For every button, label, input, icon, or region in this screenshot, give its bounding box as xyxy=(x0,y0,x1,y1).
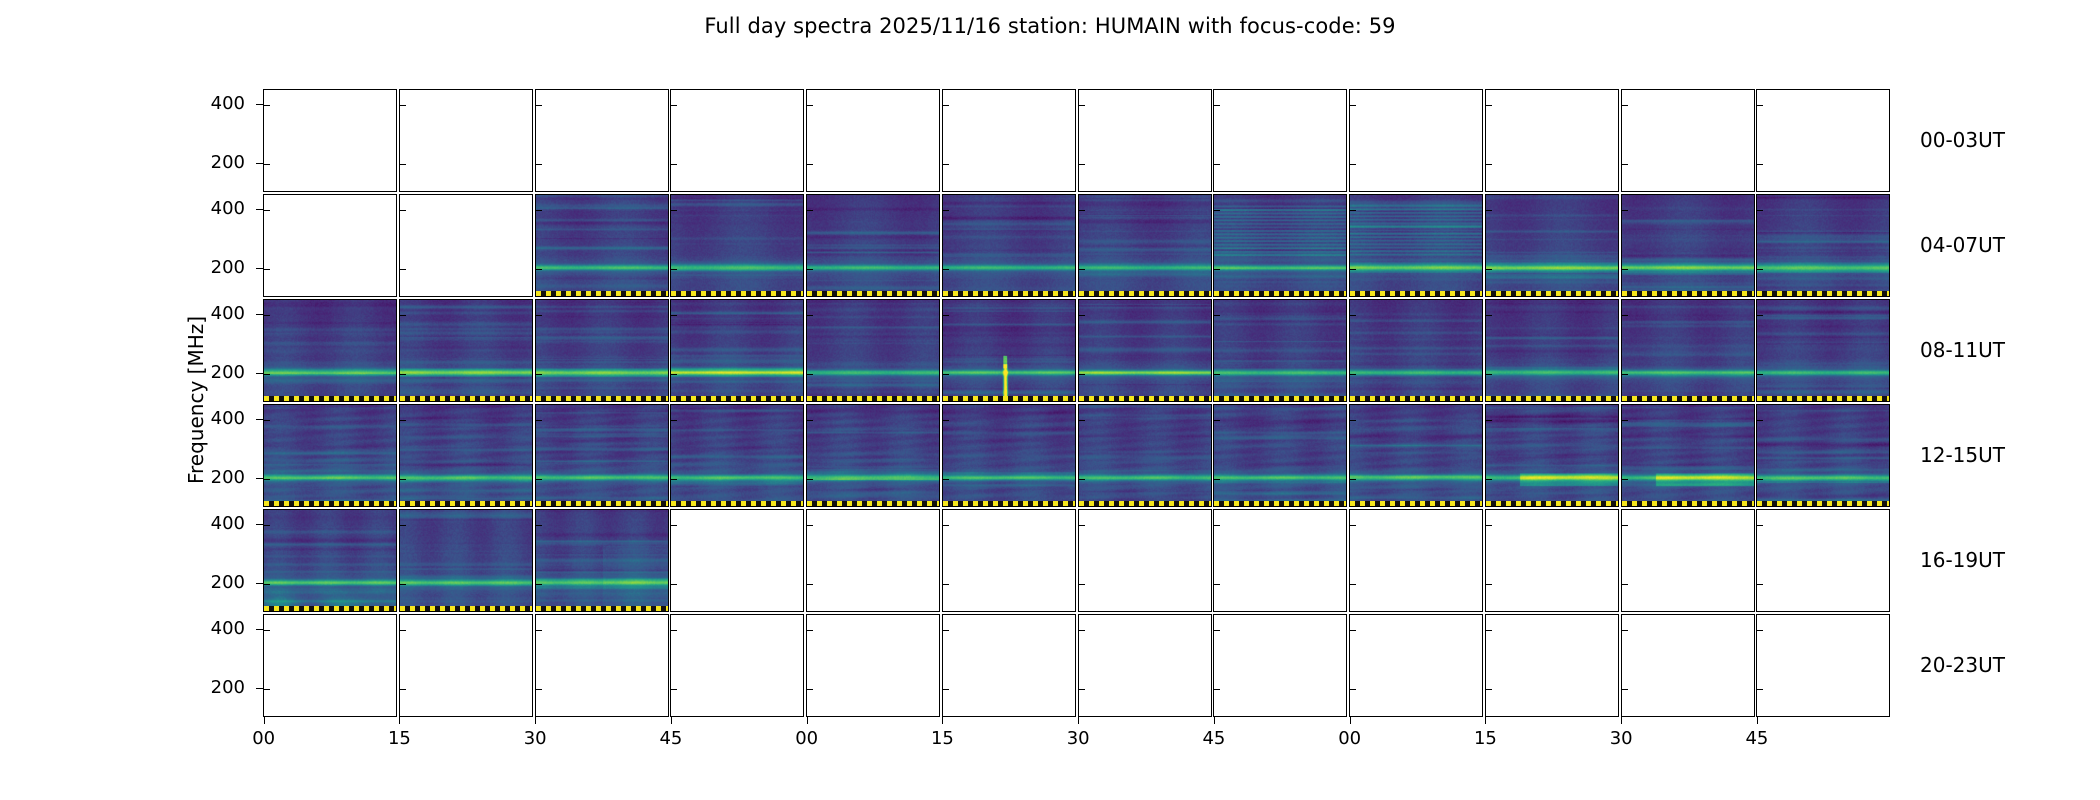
spectrogram-panel[interactable] xyxy=(1756,614,1890,717)
spectrogram-panel[interactable] xyxy=(1078,614,1212,717)
y-tick-mark xyxy=(1486,479,1492,480)
spectrogram-panel[interactable] xyxy=(670,614,804,717)
dynamic-spectrum-image xyxy=(536,300,668,401)
y-tick-mark xyxy=(807,315,813,316)
spectrogram-row-00-03ut xyxy=(263,89,1890,192)
y-tick-mark xyxy=(1350,164,1356,165)
spectrogram-panel[interactable] xyxy=(942,614,1076,717)
y-tick-mark xyxy=(807,164,813,165)
data-availability-strip xyxy=(807,396,939,401)
y-tick-mark xyxy=(943,374,949,375)
spectrogram-panel[interactable] xyxy=(1621,614,1755,717)
y-tick-mark xyxy=(1079,584,1085,585)
y-axis-tick-label: 200 xyxy=(211,572,245,593)
spectrogram-panel[interactable] xyxy=(1756,509,1890,612)
spectrogram-panel[interactable] xyxy=(399,614,533,717)
spectrogram-panel[interactable] xyxy=(535,404,669,507)
data-availability-strip xyxy=(1350,291,1482,296)
y-tick-mark xyxy=(1622,210,1628,211)
dynamic-spectrum-image xyxy=(1079,195,1211,296)
y-tick-mark xyxy=(1079,479,1085,480)
data-availability-strip xyxy=(943,396,1075,401)
y-tick-mark xyxy=(671,630,677,631)
spectrogram-panel[interactable] xyxy=(399,89,533,192)
row-time-label: 16-19UT xyxy=(1920,548,2005,572)
spectrogram-row-12-15ut xyxy=(263,404,1890,507)
spectrogram-panel[interactable] xyxy=(942,194,1076,297)
y-tick-mark xyxy=(536,689,542,690)
spectrogram-panel[interactable] xyxy=(535,299,669,402)
y-tick-mark xyxy=(1350,315,1356,316)
dynamic-spectrum-image xyxy=(943,300,1075,401)
y-tick-mark xyxy=(1486,164,1492,165)
y-tick-mark xyxy=(536,420,542,421)
y-tick-mark xyxy=(1486,525,1492,526)
y-tick-mark xyxy=(1350,525,1356,526)
y-tick-mark xyxy=(1350,420,1356,421)
data-availability-strip xyxy=(1486,291,1618,296)
y-tick-mark xyxy=(264,479,270,480)
spectrogram-panel[interactable] xyxy=(1485,404,1619,507)
y-tick-mark xyxy=(264,315,270,316)
y-tick-mark xyxy=(264,584,270,585)
y-tick-mark xyxy=(671,164,677,165)
y-tick-mark xyxy=(400,420,406,421)
y-tick-mark xyxy=(400,105,406,106)
y-tick-mark xyxy=(1757,315,1763,316)
spectrogram-panel[interactable] xyxy=(263,194,397,297)
y-tick-mark xyxy=(943,164,949,165)
dynamic-spectrum-image xyxy=(264,405,396,506)
spectrogram-panel[interactable] xyxy=(263,509,397,612)
x-axis-tick-label: 15 xyxy=(931,728,954,749)
data-availability-strip xyxy=(671,291,803,296)
y-tick-mark xyxy=(400,630,406,631)
dynamic-spectrum-image xyxy=(671,405,803,506)
y-tick-mark xyxy=(1757,164,1763,165)
dynamic-spectrum-image xyxy=(1757,300,1889,401)
y-axis-tick xyxy=(256,104,263,105)
spectrogram-panel[interactable] xyxy=(1349,89,1483,192)
y-tick-mark xyxy=(264,630,270,631)
y-tick-mark xyxy=(1079,164,1085,165)
dynamic-spectrum-image xyxy=(943,195,1075,296)
y-tick-mark xyxy=(671,315,677,316)
dynamic-spectrum-image xyxy=(807,300,939,401)
spectrogram-panel[interactable] xyxy=(1078,404,1212,507)
y-tick-mark xyxy=(1622,689,1628,690)
y-tick-mark xyxy=(807,525,813,526)
spectrogram-panel[interactable] xyxy=(1213,299,1347,402)
spectrogram-panel[interactable] xyxy=(806,509,940,612)
y-tick-mark xyxy=(536,164,542,165)
dynamic-spectrum-image xyxy=(1214,195,1346,296)
spectrogram-panel[interactable] xyxy=(670,89,804,192)
spectrogram-panel[interactable] xyxy=(670,404,804,507)
row-time-label: 12-15UT xyxy=(1920,443,2005,467)
data-availability-strip xyxy=(1622,396,1754,401)
y-tick-mark xyxy=(943,420,949,421)
spectrogram-row-08-11ut xyxy=(263,299,1890,402)
y-tick-mark xyxy=(1350,269,1356,270)
y-tick-mark xyxy=(1350,584,1356,585)
data-availability-strip xyxy=(264,606,396,611)
spectrogram-panel[interactable] xyxy=(1078,509,1212,612)
x-axis-tick-label: 00 xyxy=(252,728,275,749)
x-axis-tick xyxy=(671,717,672,724)
y-tick-mark xyxy=(1214,164,1220,165)
y-axis-tick-label: 400 xyxy=(211,513,245,534)
y-tick-mark xyxy=(536,269,542,270)
x-axis-tick xyxy=(1350,717,1351,724)
spectrogram-panel[interactable] xyxy=(1213,614,1347,717)
dynamic-spectrum-image xyxy=(1214,405,1346,506)
spectrogram-panel[interactable] xyxy=(535,89,669,192)
x-axis-tick-label: 45 xyxy=(1202,728,1225,749)
y-tick-mark xyxy=(671,689,677,690)
y-tick-mark xyxy=(1350,630,1356,631)
dynamic-spectrum-image xyxy=(1622,300,1754,401)
y-tick-mark xyxy=(264,689,270,690)
row-time-label: 08-11UT xyxy=(1920,338,2005,362)
y-tick-mark xyxy=(536,315,542,316)
x-axis-tick-label: 45 xyxy=(659,728,682,749)
y-tick-mark xyxy=(1079,689,1085,690)
y-tick-mark xyxy=(671,105,677,106)
y-tick-mark xyxy=(671,210,677,211)
spectrogram-panel[interactable] xyxy=(806,194,940,297)
y-tick-mark xyxy=(1214,420,1220,421)
data-availability-strip xyxy=(807,291,939,296)
y-tick-mark xyxy=(536,525,542,526)
spectrogram-panel[interactable] xyxy=(1756,404,1890,507)
data-availability-strip xyxy=(536,606,668,611)
y-tick-mark xyxy=(1214,479,1220,480)
data-availability-strip xyxy=(943,291,1075,296)
x-axis-tick xyxy=(807,717,808,724)
y-tick-mark xyxy=(264,210,270,211)
y-tick-mark xyxy=(400,210,406,211)
x-axis-tick xyxy=(1214,717,1215,724)
y-tick-mark xyxy=(1214,315,1220,316)
spectrogram-panel[interactable] xyxy=(1349,614,1483,717)
spectrogram-panel[interactable] xyxy=(942,89,1076,192)
y-tick-mark xyxy=(943,525,949,526)
dynamic-spectrum-image xyxy=(1079,300,1211,401)
spectrogram-panel[interactable] xyxy=(1078,194,1212,297)
y-tick-mark xyxy=(1079,315,1085,316)
y-tick-mark xyxy=(264,525,270,526)
spectrogram-panel[interactable] xyxy=(263,89,397,192)
spectrogram-panel[interactable] xyxy=(1213,194,1347,297)
spectrogram-panel[interactable] xyxy=(399,194,533,297)
spectrogram-panel[interactable] xyxy=(1349,404,1483,507)
data-availability-strip xyxy=(1486,396,1618,401)
spectrogram-panel[interactable] xyxy=(263,404,397,507)
spectrogram-panel[interactable] xyxy=(806,404,940,507)
data-availability-strip xyxy=(400,606,532,611)
spectrogram-panel[interactable] xyxy=(399,509,533,612)
y-axis-tick xyxy=(256,163,263,164)
spectrogram-panel[interactable] xyxy=(399,299,533,402)
dynamic-spectrum-image xyxy=(1622,195,1754,296)
y-tick-mark xyxy=(400,525,406,526)
y-tick-mark xyxy=(1486,374,1492,375)
spectrogram-panel[interactable] xyxy=(670,194,804,297)
data-availability-strip xyxy=(536,501,668,506)
spectrogram-panel[interactable] xyxy=(1078,299,1212,402)
y-tick-mark xyxy=(1214,525,1220,526)
y-tick-mark xyxy=(264,105,270,106)
spectrogram-panel[interactable] xyxy=(1213,89,1347,192)
dynamic-spectrum-image xyxy=(1214,300,1346,401)
dynamic-spectrum-image xyxy=(1486,195,1618,296)
y-tick-mark xyxy=(1757,689,1763,690)
x-axis-tick-label: 15 xyxy=(388,728,411,749)
x-axis-tick-label: 45 xyxy=(1745,728,1768,749)
y-axis-tick xyxy=(256,419,263,420)
y-axis-tick xyxy=(256,373,263,374)
dynamic-spectrum-image xyxy=(1757,195,1889,296)
x-axis-tick-label: 30 xyxy=(1067,728,1090,749)
spectrogram-panel[interactable] xyxy=(263,614,397,717)
y-axis-tick-label: 200 xyxy=(211,152,245,173)
data-availability-strip xyxy=(1350,501,1482,506)
x-axis-tick-label: 00 xyxy=(795,728,818,749)
y-tick-mark xyxy=(943,105,949,106)
y-tick-mark xyxy=(943,479,949,480)
spectrogram-panel[interactable] xyxy=(535,614,669,717)
dynamic-spectrum-image xyxy=(807,195,939,296)
spectrogram-panel[interactable] xyxy=(1349,299,1483,402)
dynamic-spectrum-image xyxy=(400,405,532,506)
y-tick-mark xyxy=(400,584,406,585)
spectrogram-panel[interactable] xyxy=(1485,89,1619,192)
x-axis-tick xyxy=(264,717,265,724)
y-tick-mark xyxy=(807,420,813,421)
y-tick-mark xyxy=(1757,479,1763,480)
y-tick-mark xyxy=(536,105,542,106)
y-tick-mark xyxy=(1486,210,1492,211)
dynamic-spectrum-image xyxy=(1350,300,1482,401)
spectrogram-panel[interactable] xyxy=(1756,194,1890,297)
data-availability-strip xyxy=(1350,396,1482,401)
y-tick-mark xyxy=(943,689,949,690)
spectrogram-panel[interactable] xyxy=(1621,299,1755,402)
data-availability-strip xyxy=(1214,501,1346,506)
y-tick-mark xyxy=(807,630,813,631)
spectrogram-panel[interactable] xyxy=(1485,614,1619,717)
dynamic-spectrum-image xyxy=(1350,405,1482,506)
spectrogram-panel[interactable] xyxy=(806,614,940,717)
spectrogram-panel[interactable] xyxy=(1349,194,1483,297)
data-availability-strip xyxy=(1622,501,1754,506)
dynamic-spectrum-image xyxy=(671,300,803,401)
dynamic-spectrum-image xyxy=(536,195,668,296)
y-axis-tick-label: 200 xyxy=(211,467,245,488)
data-availability-strip xyxy=(1486,501,1618,506)
spectrogram-panel[interactable] xyxy=(1213,404,1347,507)
spectrogram-panel[interactable] xyxy=(942,299,1076,402)
y-tick-mark xyxy=(536,584,542,585)
spectrogram-panel[interactable] xyxy=(1756,89,1890,192)
y-tick-mark xyxy=(1486,630,1492,631)
data-availability-strip xyxy=(536,291,668,296)
spectrogram-panel[interactable] xyxy=(1078,89,1212,192)
spectrogram-panel[interactable] xyxy=(263,299,397,402)
data-availability-strip xyxy=(1622,291,1754,296)
spectrogram-panel[interactable] xyxy=(1621,404,1755,507)
y-tick-mark xyxy=(536,630,542,631)
spectrogram-panel[interactable] xyxy=(1621,89,1755,192)
x-axis-tick xyxy=(1757,717,1758,724)
y-tick-mark xyxy=(400,269,406,270)
y-tick-mark xyxy=(1079,269,1085,270)
y-axis-tick xyxy=(256,524,263,525)
y-tick-mark xyxy=(1622,479,1628,480)
figure-title: Full day spectra 2025/11/16 station: HUM… xyxy=(0,14,2100,38)
y-tick-mark xyxy=(1757,630,1763,631)
y-tick-mark xyxy=(1757,210,1763,211)
y-tick-mark xyxy=(1350,479,1356,480)
y-tick-mark xyxy=(671,420,677,421)
data-availability-strip xyxy=(400,501,532,506)
dynamic-spectrum-image xyxy=(1486,300,1618,401)
y-tick-mark xyxy=(1757,584,1763,585)
y-tick-mark xyxy=(1486,689,1492,690)
data-availability-strip xyxy=(943,501,1075,506)
y-tick-mark xyxy=(807,584,813,585)
spectrogram-figure: Full day spectra 2025/11/16 station: HUM… xyxy=(0,0,2100,800)
y-tick-mark xyxy=(1079,210,1085,211)
x-axis-tick-label: 30 xyxy=(1610,728,1633,749)
y-axis-tick xyxy=(256,268,263,269)
data-availability-strip xyxy=(264,396,396,401)
dynamic-spectrum-image xyxy=(536,510,668,611)
spectrogram-panel[interactable] xyxy=(535,194,669,297)
y-tick-mark xyxy=(671,374,677,375)
y-tick-mark xyxy=(1486,105,1492,106)
y-tick-mark xyxy=(536,210,542,211)
spectrogram-row-20-23ut xyxy=(263,614,1890,717)
y-tick-mark xyxy=(1214,689,1220,690)
x-axis-tick xyxy=(535,717,536,724)
row-time-label: 20-23UT xyxy=(1920,653,2005,677)
spectrogram-panel[interactable] xyxy=(399,404,533,507)
spectrogram-panel[interactable] xyxy=(942,404,1076,507)
data-availability-strip xyxy=(264,501,396,506)
dynamic-spectrum-image xyxy=(1622,405,1754,506)
spectrogram-panel[interactable] xyxy=(806,299,940,402)
y-tick-mark xyxy=(400,479,406,480)
x-axis-tick-label: 00 xyxy=(1338,728,1361,749)
dynamic-spectrum-image xyxy=(1079,405,1211,506)
y-tick-mark xyxy=(1757,420,1763,421)
y-tick-mark xyxy=(1214,630,1220,631)
dynamic-spectrum-image xyxy=(807,405,939,506)
y-tick-mark xyxy=(671,584,677,585)
x-axis-tick xyxy=(1621,717,1622,724)
y-axis-tick-label: 400 xyxy=(211,408,245,429)
y-tick-mark xyxy=(1622,269,1628,270)
y-tick-mark xyxy=(1214,584,1220,585)
y-tick-mark xyxy=(1622,525,1628,526)
y-tick-mark xyxy=(400,164,406,165)
y-tick-mark xyxy=(1622,630,1628,631)
spectrogram-panel[interactable] xyxy=(1485,509,1619,612)
spectrogram-panel[interactable] xyxy=(1756,299,1890,402)
dynamic-spectrum-image xyxy=(400,300,532,401)
data-availability-strip xyxy=(1757,396,1889,401)
spectrogram-panel[interactable] xyxy=(942,509,1076,612)
y-tick-mark xyxy=(943,630,949,631)
dynamic-spectrum-image xyxy=(1757,405,1889,506)
y-axis-tick xyxy=(256,478,263,479)
y-tick-mark xyxy=(1486,584,1492,585)
y-tick-mark xyxy=(536,479,542,480)
data-availability-strip xyxy=(400,396,532,401)
spectrogram-panel[interactable] xyxy=(1349,509,1483,612)
y-tick-mark xyxy=(1214,374,1220,375)
dynamic-spectrum-image xyxy=(943,405,1075,506)
y-axis-tick-label: 200 xyxy=(211,362,245,383)
y-tick-mark xyxy=(807,479,813,480)
y-tick-mark xyxy=(1757,525,1763,526)
y-tick-mark xyxy=(400,315,406,316)
y-tick-mark xyxy=(1214,210,1220,211)
spectrogram-panel[interactable] xyxy=(1213,509,1347,612)
spectrogram-panel[interactable] xyxy=(1621,509,1755,612)
y-axis-tick xyxy=(256,629,263,630)
y-tick-mark xyxy=(1757,374,1763,375)
y-tick-mark xyxy=(671,269,677,270)
data-availability-strip xyxy=(1079,396,1211,401)
data-availability-strip xyxy=(1214,396,1346,401)
dynamic-spectrum-image xyxy=(536,405,668,506)
y-tick-mark xyxy=(264,420,270,421)
y-tick-mark xyxy=(1079,630,1085,631)
spectrogram-panel[interactable] xyxy=(1485,299,1619,402)
y-tick-mark xyxy=(1214,105,1220,106)
spectrogram-panel[interactable] xyxy=(1621,194,1755,297)
data-availability-strip xyxy=(1757,501,1889,506)
y-tick-mark xyxy=(264,269,270,270)
spectrogram-panel[interactable] xyxy=(1485,194,1619,297)
data-availability-strip xyxy=(671,501,803,506)
y-axis-tick-label: 400 xyxy=(211,303,245,324)
spectrogram-panel[interactable] xyxy=(670,299,804,402)
data-availability-strip xyxy=(671,396,803,401)
spectrogram-panel[interactable] xyxy=(806,89,940,192)
y-tick-mark xyxy=(1350,374,1356,375)
dynamic-spectrum-image xyxy=(264,300,396,401)
y-tick-mark xyxy=(671,525,677,526)
data-availability-strip xyxy=(536,396,668,401)
y-tick-mark xyxy=(1622,315,1628,316)
spectrogram-panel[interactable] xyxy=(535,509,669,612)
y-tick-mark xyxy=(807,374,813,375)
row-time-label: 00-03UT xyxy=(1920,128,2005,152)
x-axis-tick-label: 30 xyxy=(524,728,547,749)
y-tick-mark xyxy=(807,689,813,690)
data-availability-strip xyxy=(1079,291,1211,296)
spectrogram-row-16-19ut xyxy=(263,509,1890,612)
dynamic-spectrum-image xyxy=(1350,195,1482,296)
y-tick-mark xyxy=(1622,420,1628,421)
spectrogram-row-04-07ut xyxy=(263,194,1890,297)
spectrogram-panel[interactable] xyxy=(670,509,804,612)
y-tick-mark xyxy=(1079,105,1085,106)
